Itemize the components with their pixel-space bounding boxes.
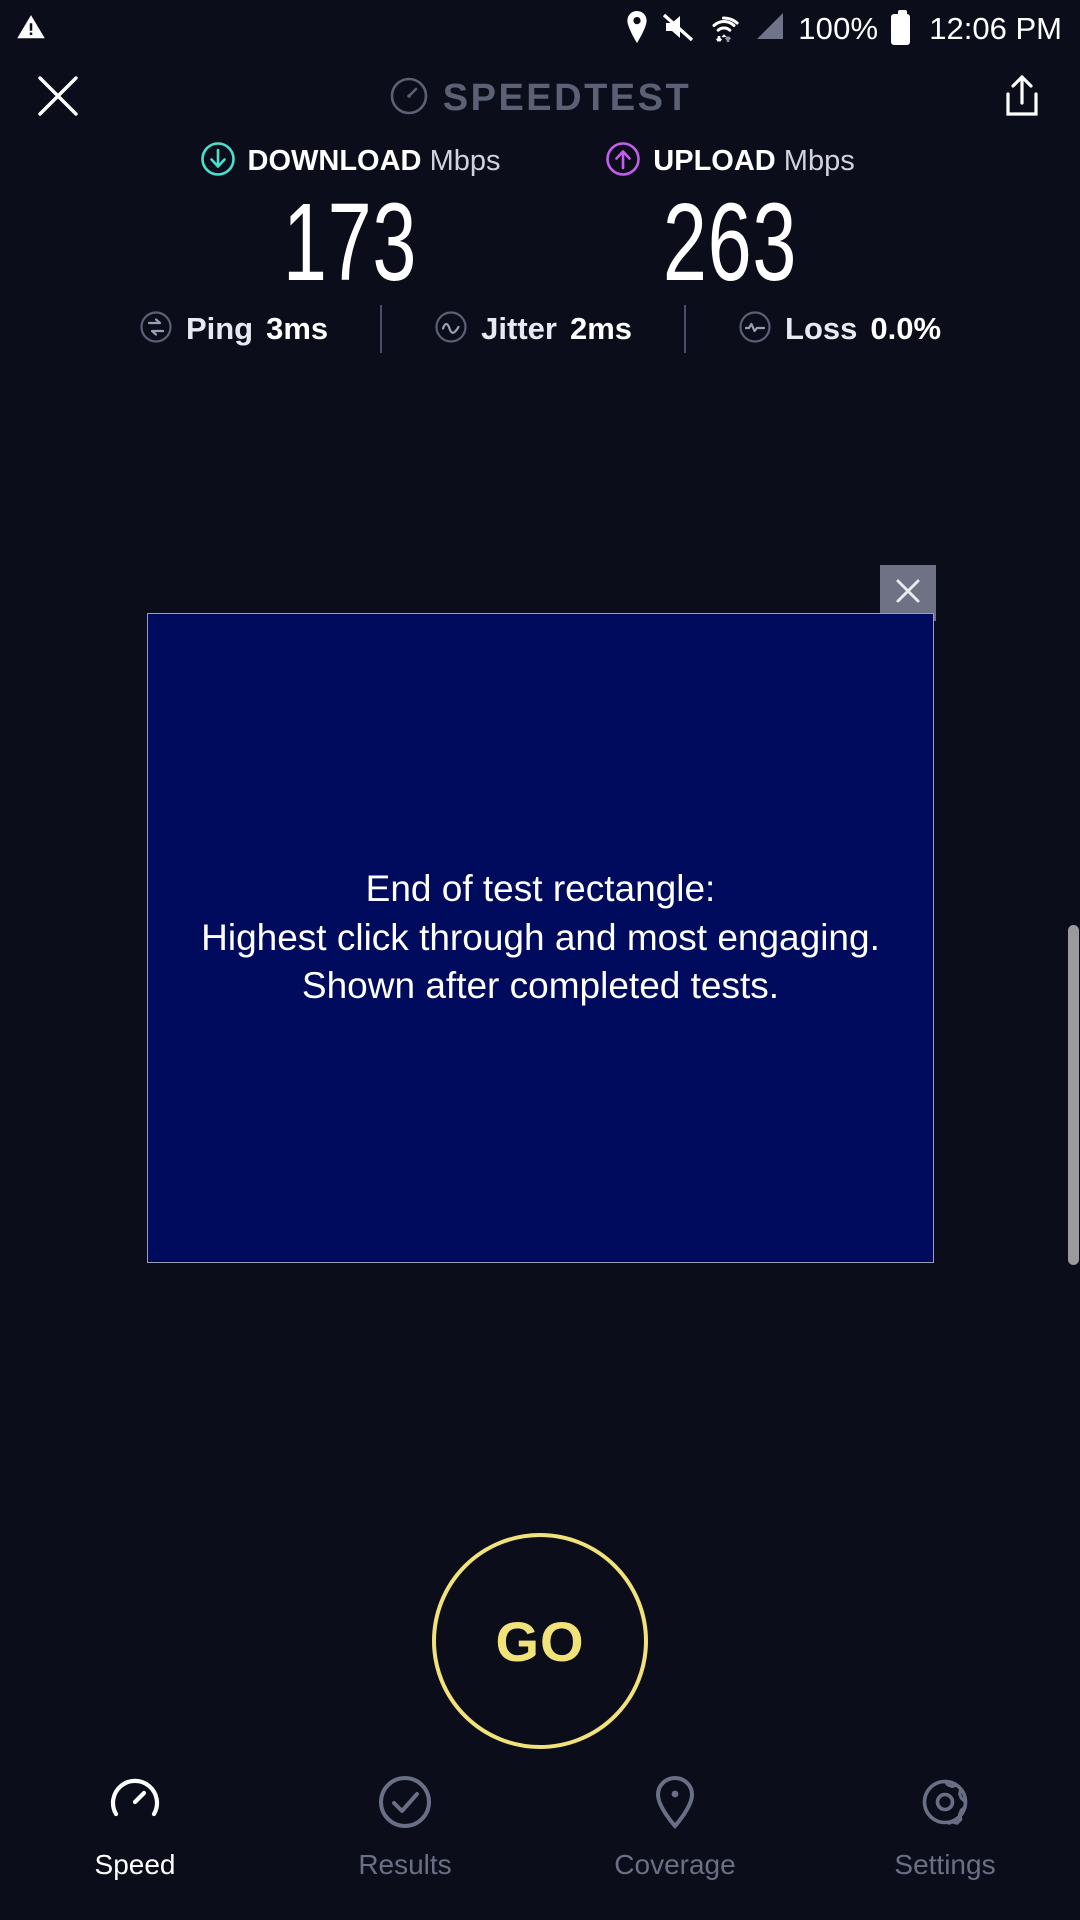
metric-jitter: Jitter 2ms <box>434 310 632 349</box>
app-header: SPEEDTEST <box>0 58 1080 138</box>
upload-label: UPLOAD Mbps <box>653 145 854 178</box>
wifi-icon <box>708 11 740 48</box>
nav-item-results[interactable]: Results <box>270 1774 540 1881</box>
share-icon <box>1002 74 1042 123</box>
nav-label-speed: Speed <box>95 1849 176 1881</box>
metric-loss-value: 0.0% <box>870 311 941 347</box>
gear-icon <box>917 1774 973 1835</box>
network-metrics-row: Ping 3ms Jitter 2ms Loss 0.0% <box>0 305 1080 353</box>
brand-logo: SPEEDTEST <box>0 76 1080 121</box>
metric-jitter-label: Jitter <box>481 311 557 347</box>
volume-mute-icon <box>663 12 695 47</box>
upload-header: UPLOAD Mbps <box>540 140 920 182</box>
metric-loss-label: Loss <box>785 311 857 347</box>
clock-label: 12:06 PM <box>929 11 1062 47</box>
upload-arrow-icon <box>605 141 641 182</box>
go-button-label: GO <box>495 1609 584 1674</box>
metric-ping: Ping 3ms <box>139 310 328 349</box>
results-header-row: DOWNLOAD Mbps 173 UPLOAD Mbps 263 <box>0 140 1080 298</box>
upload-value: 263 <box>593 188 867 298</box>
warning-triangle-icon <box>16 12 46 47</box>
battery-full-icon <box>891 14 910 45</box>
jitter-icon <box>434 310 468 349</box>
nav-item-speed[interactable]: Speed <box>0 1774 270 1881</box>
metric-ping-value: 3ms <box>266 311 328 347</box>
location-pin-icon <box>624 11 650 48</box>
close-icon <box>893 576 923 611</box>
nav-label-settings: Settings <box>894 1849 995 1881</box>
status-bar-left <box>16 12 46 47</box>
scrollbar-thumb[interactable] <box>1068 925 1079 1265</box>
download-label: DOWNLOAD Mbps <box>248 145 501 178</box>
upload-result: UPLOAD Mbps 263 <box>540 140 920 298</box>
metric-divider <box>380 305 382 353</box>
metric-ping-label: Ping <box>186 311 253 347</box>
metric-loss: Loss 0.0% <box>738 310 941 349</box>
download-header: DOWNLOAD Mbps <box>160 140 540 182</box>
check-circle-icon <box>377 1774 433 1835</box>
metric-jitter-value: 2ms <box>570 311 632 347</box>
status-bar: 100% 12:06 PM <box>0 0 1080 58</box>
loss-icon <box>738 310 772 349</box>
speedometer-icon <box>107 1774 163 1835</box>
nav-item-settings[interactable]: Settings <box>810 1774 1080 1881</box>
close-icon <box>35 73 81 124</box>
download-result: DOWNLOAD Mbps 173 <box>160 140 540 298</box>
speedometer-icon <box>389 76 429 121</box>
bottom-navigation: Speed Results Coverage Settings <box>0 1760 1080 1920</box>
brand-title: SPEEDTEST <box>443 77 691 120</box>
share-button[interactable] <box>994 70 1050 126</box>
ad-text: End of test rectangle: Highest click thr… <box>201 865 880 1011</box>
metric-divider <box>684 305 686 353</box>
download-arrow-icon <box>200 141 236 182</box>
download-value: 173 <box>213 188 487 298</box>
battery-percent-label: 100% <box>798 11 878 47</box>
results-summary: DOWNLOAD Mbps 173 UPLOAD Mbps 263 <box>0 140 1080 298</box>
nav-item-coverage[interactable]: Coverage <box>540 1774 810 1881</box>
nav-label-coverage: Coverage <box>614 1849 735 1881</box>
ping-icon <box>139 310 173 349</box>
go-button[interactable]: GO <box>432 1533 648 1749</box>
map-pin-icon <box>647 1774 703 1835</box>
close-button[interactable] <box>30 70 86 126</box>
ad-banner[interactable]: End of test rectangle: Highest click thr… <box>147 613 934 1263</box>
speedtest-app-screen: 100% 12:06 PM SPEEDTEST <box>0 0 1080 1920</box>
status-bar-right: 100% 12:06 PM <box>624 11 1062 48</box>
cellular-signal-icon <box>753 12 785 47</box>
nav-label-results: Results <box>358 1849 451 1881</box>
